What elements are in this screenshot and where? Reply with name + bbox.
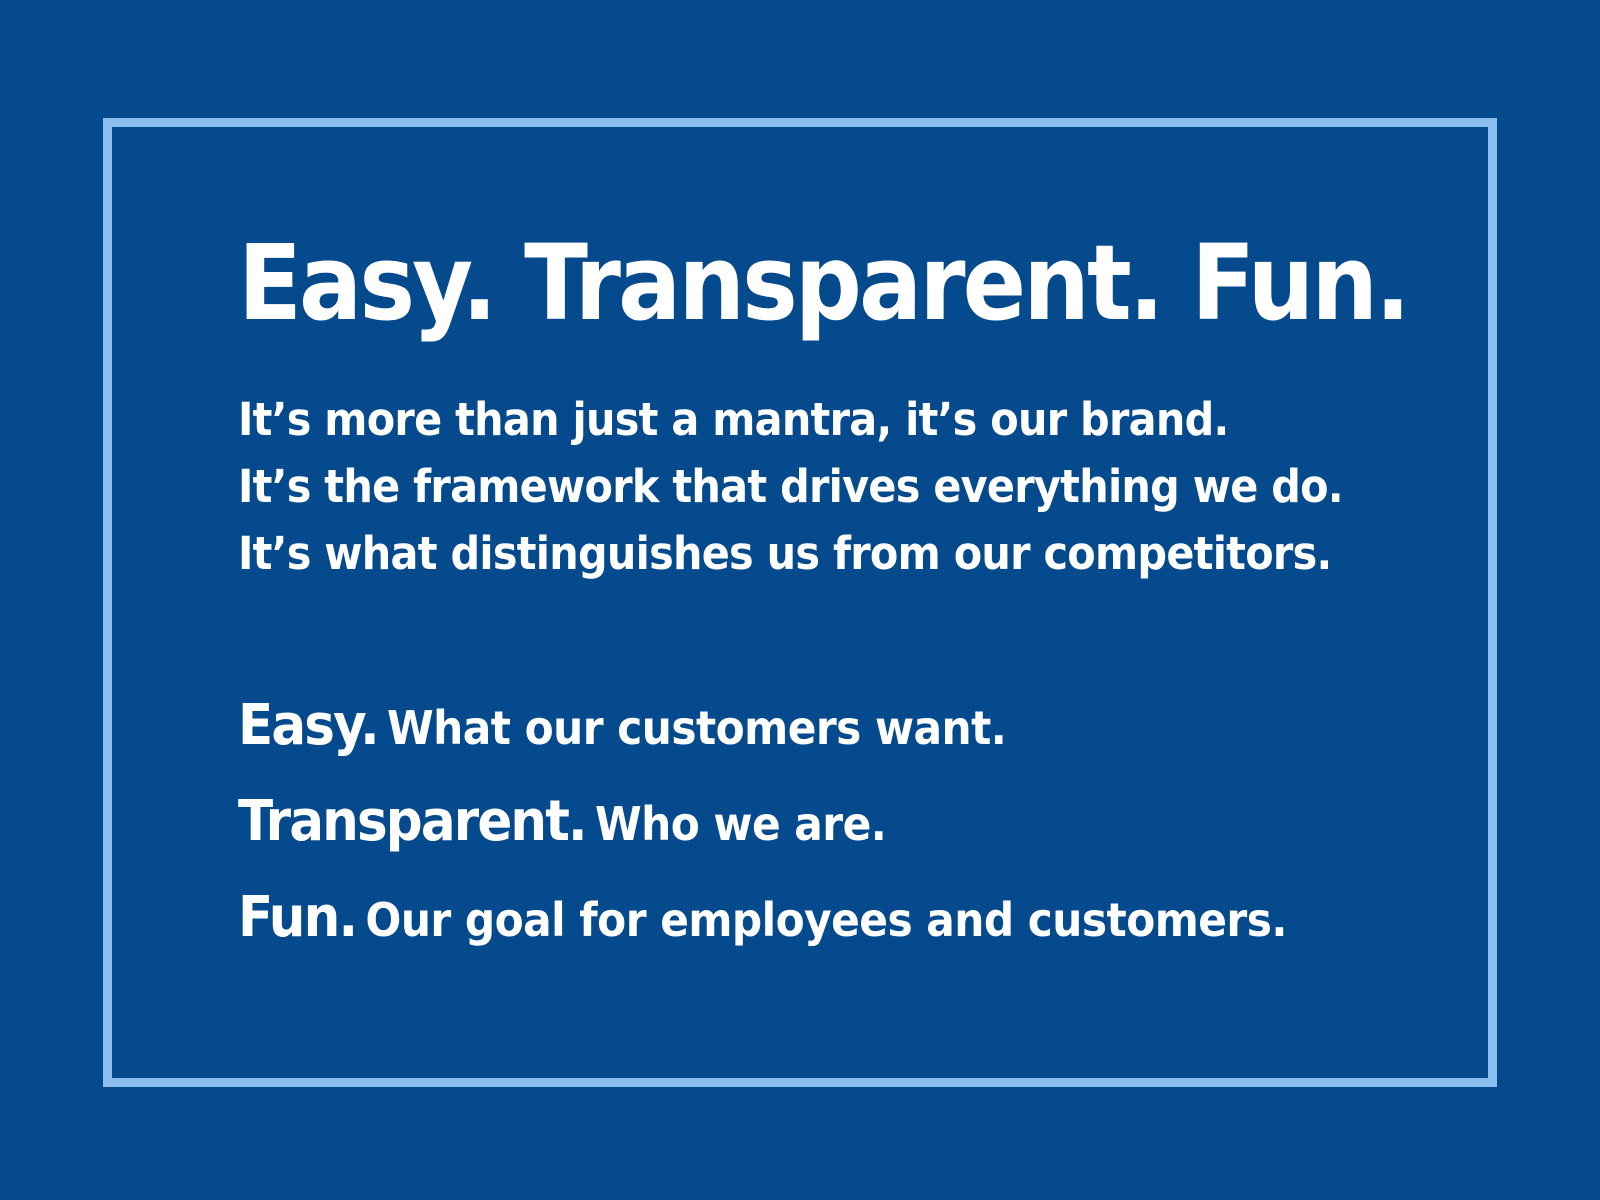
pillar-term-easy: Easy.: [238, 693, 378, 758]
intro-paragraph: It’s more than just a mantra, it’s our b…: [238, 386, 1418, 587]
pillar-item-fun: Fun.Our goal for employees and customers…: [238, 877, 1324, 973]
intro-line-1: It’s more than just a mantra, it’s our b…: [238, 386, 1324, 453]
pillar-item-easy: Easy.What our customers want.: [238, 685, 1324, 781]
pillar-description-fun: Our goal for employees and customers.: [365, 893, 1286, 947]
pillar-list: Easy.What our customers want. Transparen…: [238, 685, 1418, 973]
slide-content: Easy. Transparent. Fun. It’s more than j…: [238, 228, 1418, 973]
page-title: Easy. Transparent. Fun.: [238, 228, 1300, 338]
pillar-term-fun: Fun.: [238, 885, 356, 950]
pillar-description-easy: What our customers want.: [387, 701, 1006, 755]
intro-line-3: It’s what distinguishes us from our comp…: [238, 520, 1324, 587]
pillar-description-transparent: Who we are.: [595, 797, 886, 851]
pillar-term-transparent: Transparent.: [238, 789, 586, 854]
slide-canvas: Easy. Transparent. Fun. It’s more than j…: [0, 0, 1600, 1200]
intro-line-2: It’s the framework that drives everythin…: [238, 453, 1324, 520]
pillar-item-transparent: Transparent.Who we are.: [238, 781, 1324, 877]
